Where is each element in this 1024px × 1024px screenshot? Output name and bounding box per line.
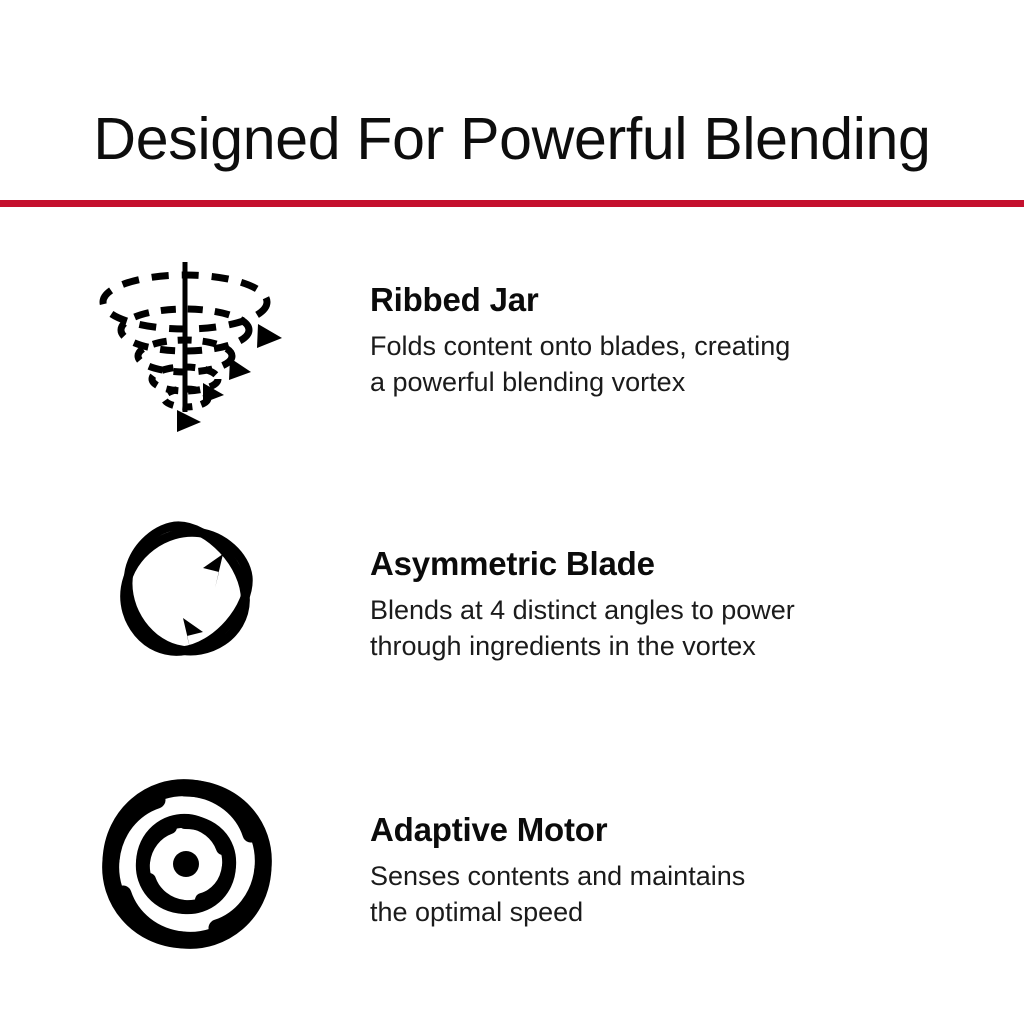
crossed-ellipses-blade-icon bbox=[0, 510, 370, 676]
feature-row: Ribbed Jar Folds content onto blades, cr… bbox=[0, 240, 1024, 475]
feature-row: Adaptive Motor Senses contents and maint… bbox=[0, 770, 1024, 1020]
marketing-infographic: Designed For Powerful Blending bbox=[0, 0, 1024, 1024]
feature-text: Ribbed Jar Folds content onto blades, cr… bbox=[370, 240, 1024, 401]
feature-title: Adaptive Motor bbox=[370, 812, 994, 848]
title-divider bbox=[0, 200, 1024, 207]
feature-text: Asymmetric Blade Blends at 4 distinct an… bbox=[370, 510, 1024, 665]
feature-text: Adaptive Motor Senses contents and maint… bbox=[370, 770, 1024, 931]
page-title: Designed For Powerful Blending bbox=[0, 108, 1024, 172]
feature-title: Asymmetric Blade bbox=[370, 546, 994, 582]
feature-description: Senses contents and maintains the optima… bbox=[370, 859, 994, 931]
feature-list: Ribbed Jar Folds content onto blades, cr… bbox=[0, 207, 1024, 1024]
header: Designed For Powerful Blending bbox=[0, 0, 1024, 200]
feature-description: Blends at 4 distinct angles to power thr… bbox=[370, 593, 994, 665]
feature-description: Folds content onto blades, creating a po… bbox=[370, 329, 994, 401]
feature-row: Asymmetric Blade Blends at 4 distinct an… bbox=[0, 510, 1024, 745]
spiral-motor-icon bbox=[0, 770, 370, 951]
vortex-cone-icon bbox=[0, 240, 370, 446]
feature-title: Ribbed Jar bbox=[370, 282, 994, 318]
